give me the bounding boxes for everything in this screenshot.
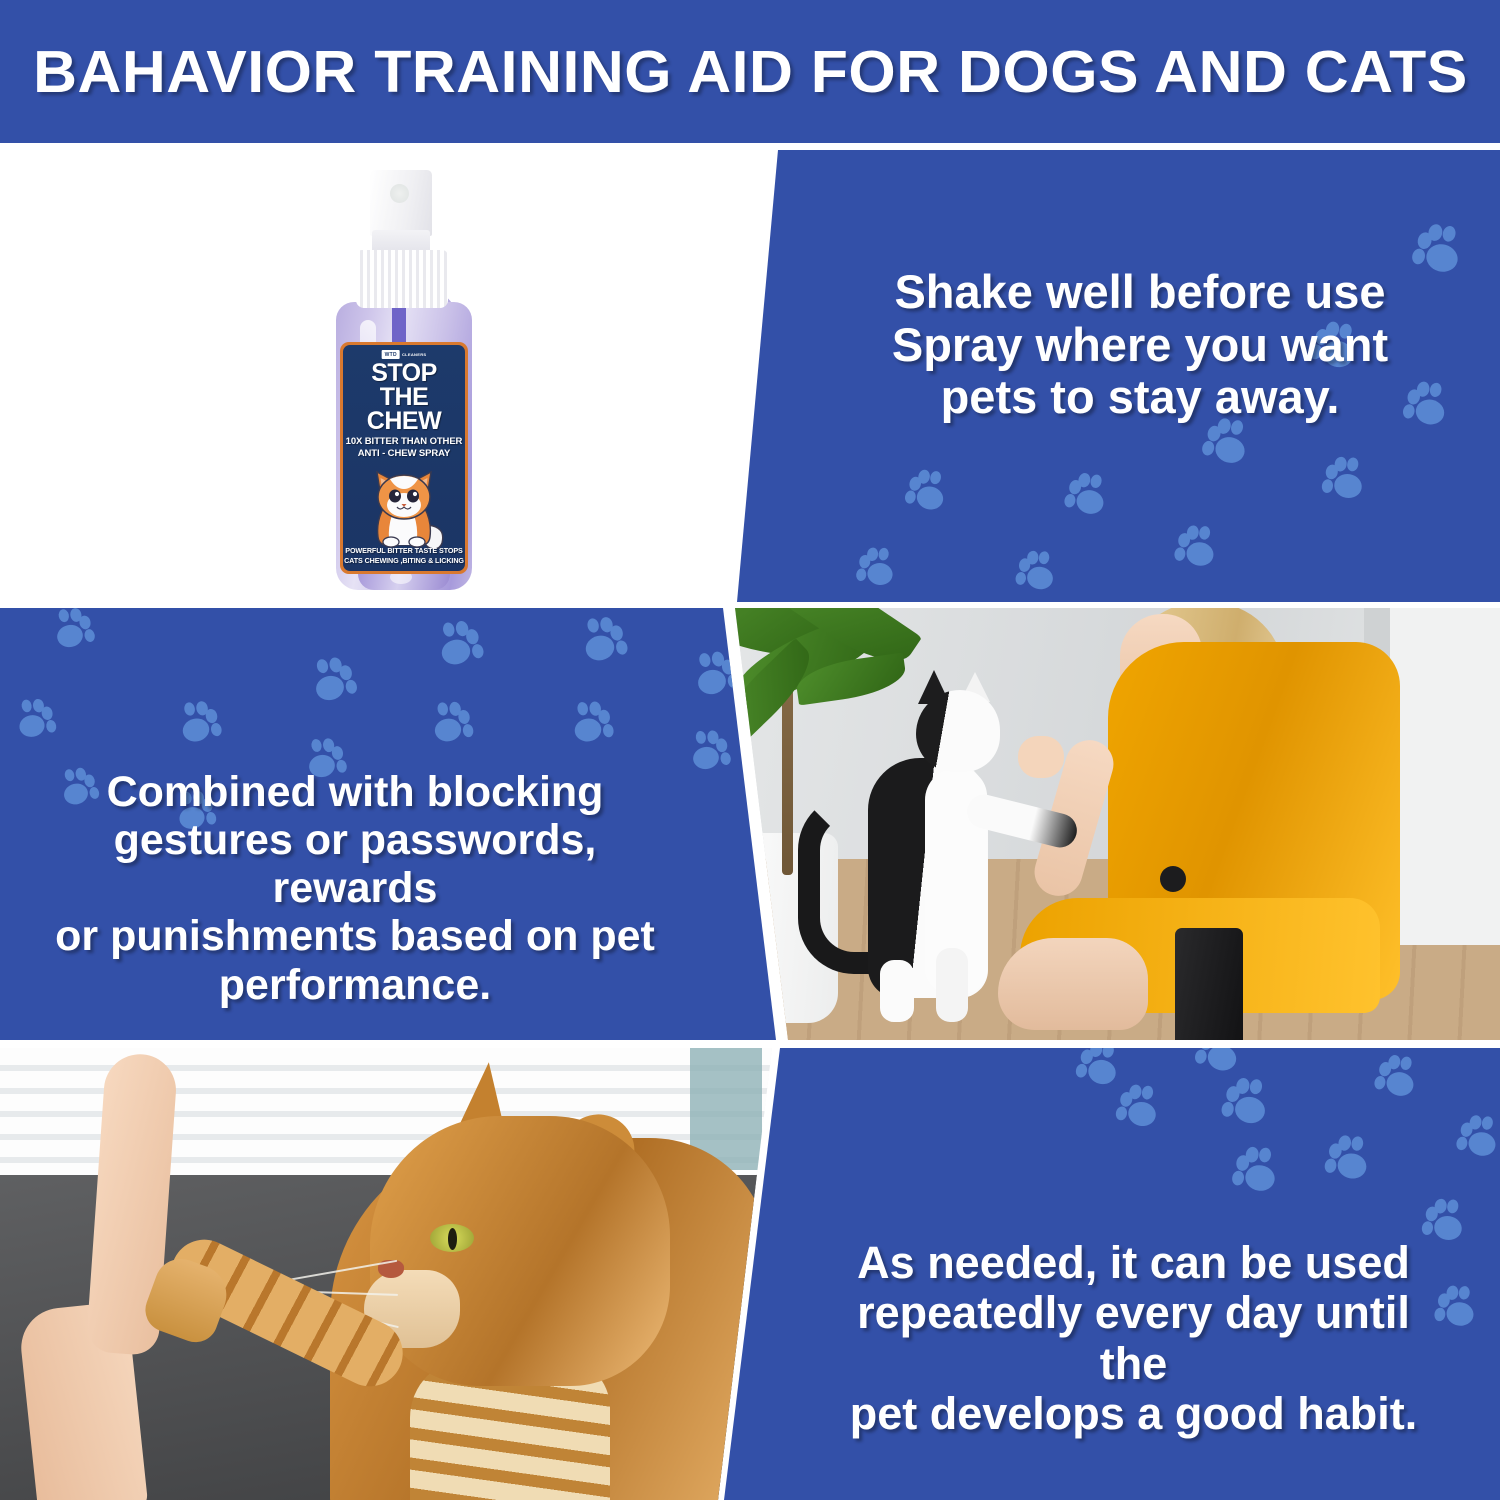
product-bottle-panel: WTD CLEANERS STOP THE CHEW 10X BITTER TH… [0, 150, 800, 602]
combined-line-1: Combined with blocking [30, 768, 680, 816]
label-subtitle-line-1: 10X BITTER THAN OTHER [343, 437, 465, 446]
shake-well-line-1: Shake well before use [840, 266, 1440, 319]
brand-logo: WTD CLEANERS [382, 350, 427, 359]
shake-well-line-3: pets to stay away. [840, 371, 1440, 424]
label-title-line-2: THE [343, 385, 465, 409]
header-banner: BAHAVIOR TRAINING AID FOR DOGS AND CATS [0, 0, 1500, 143]
shake-well-text: Shake well before use Spray where you wa… [730, 266, 1500, 424]
cat-pupil [448, 1228, 457, 1250]
spray-nozzle-orifice [390, 184, 409, 203]
combined-blocking-panel: Combined with blocking gestures or passw… [0, 608, 790, 1040]
product-label: WTD CLEANERS STOP THE CHEW 10X BITTER TH… [340, 342, 468, 574]
cat-high-five-photo [0, 1048, 790, 1500]
combined-line-4: performance. [30, 961, 680, 1009]
cat-head [916, 690, 1000, 772]
photo-wall-right [1390, 608, 1500, 945]
as-needed-line-1: As needed, it can be used [822, 1238, 1445, 1288]
shake-well-line-2: Spray where you want [840, 319, 1440, 372]
stop-the-chew-spray-bottle: WTD CLEANERS STOP THE CHEW 10X BITTER TH… [328, 170, 488, 600]
as-needed-line-2: repeatedly every day until the [822, 1288, 1445, 1389]
woman-training-cat-photo [720, 608, 1500, 1040]
label-title-line-1: STOP [343, 361, 465, 385]
brand-word: CLEANERS [402, 352, 426, 357]
as-needed-line-3: pet develops a good habit. [822, 1389, 1445, 1439]
row-instruction-and-training-photo: Combined with blocking gestures or passw… [0, 608, 1500, 1040]
as-needed-panel: As needed, it can be used repeatedly eve… [712, 1048, 1500, 1500]
combined-line-2: gestures or passwords, rewards [30, 816, 680, 912]
as-needed-text: As needed, it can be used repeatedly eve… [712, 1238, 1500, 1440]
spray-nozzle-icon [370, 170, 432, 236]
infographic-page: BAHAVIOR TRAINING AID FOR DOGS AND CATS [0, 0, 1500, 1500]
product-label-field: WTD CLEANERS STOP THE CHEW 10X BITTER TH… [343, 345, 465, 571]
cartoon-cat-icon [358, 463, 450, 549]
shake-well-panel: Shake well before use Spray where you wa… [730, 150, 1500, 602]
brand-badge: WTD [382, 350, 400, 359]
page-title: BAHAVIOR TRAINING AID FOR DOGS AND CATS [33, 38, 1468, 106]
black-container [1175, 928, 1243, 1048]
combined-blocking-text: Combined with blocking gestures or passw… [0, 768, 790, 1009]
cat-hind-leg [936, 948, 968, 1022]
label-subtitle-line-2: ANTI - CHEW SPRAY [343, 449, 465, 458]
label-footer-line-1: POWERFUL BITTER TASTE STOPS [343, 548, 465, 555]
woman-hand [1018, 736, 1064, 778]
combined-line-3: or punishments based on pet [30, 912, 680, 960]
cat-hind-leg [880, 960, 914, 1022]
bottle-collar [356, 250, 448, 308]
label-title-line-3: CHEW [343, 409, 465, 433]
row-highfive-photo-and-instruction: As needed, it can be used repeatedly eve… [0, 1048, 1500, 1500]
label-footer-line-2: CATS CHEWING ,BITING & LICKING [343, 558, 465, 565]
row-product-and-instruction: WTD CLEANERS STOP THE CHEW 10X BITTER TH… [0, 150, 1500, 602]
woman-leg [998, 938, 1148, 1030]
dress-button [1160, 866, 1186, 892]
